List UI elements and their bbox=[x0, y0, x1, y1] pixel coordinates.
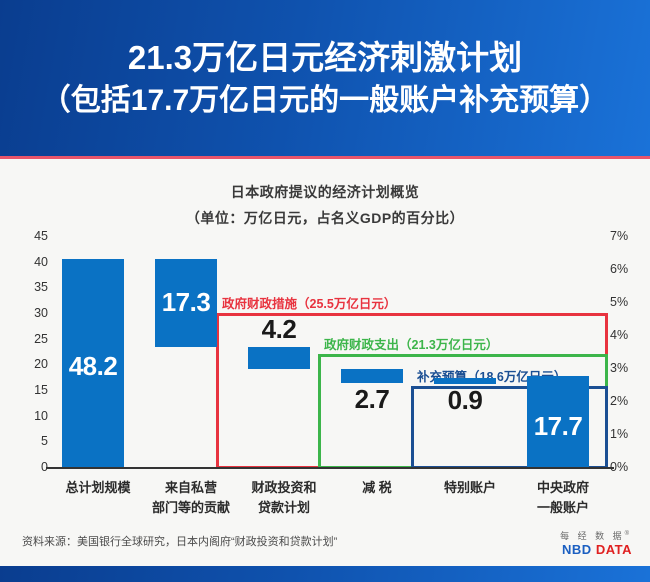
registered-mark-icon: ® bbox=[625, 531, 632, 537]
footer-banner bbox=[0, 566, 650, 582]
x-label-private-sector-contribution: 来自私营 部门等的贡献 bbox=[145, 478, 237, 518]
logo-english-name: NBD DATA bbox=[560, 542, 632, 557]
y-axis-left: 45 40 35 30 25 20 15 10 5 0 bbox=[14, 236, 48, 476]
annotation-label-fiscal-spending: 政府财政支出（21.3万亿日元） bbox=[324, 334, 498, 353]
x-axis-baseline bbox=[52, 467, 608, 469]
y-tick-right-1: 1% bbox=[610, 428, 640, 440]
chart-plot-area: 45 40 35 30 25 20 15 10 5 0 7% 6% 5% 4% … bbox=[0, 236, 650, 476]
y-tick-left-15: 15 bbox=[14, 384, 48, 396]
logo-data-text: DATA bbox=[596, 542, 632, 557]
bar-value-central-government-general-account: 17.7 bbox=[527, 412, 589, 440]
y-axis-left-zero-tick bbox=[46, 467, 53, 469]
bar-value-total-plan-scale: 48.2 bbox=[62, 352, 124, 380]
y-tick-left-25: 25 bbox=[14, 333, 48, 345]
y-tick-left-35: 35 bbox=[14, 281, 48, 293]
x-label-total-plan-scale: 总计划规模 bbox=[52, 478, 144, 498]
header-accent-rule bbox=[0, 156, 650, 159]
y-tick-right-0: 0% bbox=[610, 461, 640, 473]
y-axis-right: 7% 6% 5% 4% 3% 2% 1% 0% bbox=[610, 236, 644, 476]
source-note: 资料来源：美国银行全球研究，日本内阁府“财政投资和贷款计划” bbox=[22, 533, 337, 549]
nbd-logo: 每 经 数 据® NBD DATA bbox=[560, 528, 632, 557]
y-tick-left-45: 45 bbox=[14, 230, 48, 242]
chart-subtitle: （单位：万亿日元，占名义GDP的百分比） bbox=[0, 208, 650, 228]
chart-title: 日本政府提议的经济计划概览 bbox=[0, 182, 650, 202]
bar-tax-reduction bbox=[341, 369, 403, 383]
y-tick-left-40: 40 bbox=[14, 256, 48, 268]
x-label-fiscal-investment-loan-program: 财政投资和 贷款计划 bbox=[238, 478, 330, 518]
logo-chinese-text: 每 经 数 据 bbox=[560, 531, 625, 541]
x-label-line1: 特别账户 bbox=[424, 478, 516, 498]
x-label-line2: 一般账户 bbox=[517, 498, 609, 518]
x-label-special-account: 特别账户 bbox=[424, 478, 516, 498]
y-tick-right-3: 3% bbox=[610, 362, 640, 374]
x-label-line2: 部门等的贡献 bbox=[145, 498, 237, 518]
logo-nbd-text: NBD bbox=[562, 542, 592, 557]
bar-value-fiscal-investment-loan-program: 4.2 bbox=[248, 315, 310, 343]
bar-value-special-account: 0.9 bbox=[434, 386, 496, 414]
annotation-label-fiscal-measures: 政府财政措施（25.5万亿日元） bbox=[222, 293, 396, 312]
bar-fiscal-investment-loan-program bbox=[248, 347, 310, 369]
y-tick-right-4: 4% bbox=[610, 329, 640, 341]
y-tick-left-0: 0 bbox=[14, 461, 48, 473]
x-label-tax-reduction: 减 税 bbox=[331, 478, 423, 498]
x-label-line1: 中央政府 bbox=[517, 478, 609, 498]
y-tick-right-6: 6% bbox=[610, 263, 640, 275]
x-label-line1: 来自私营 bbox=[145, 478, 237, 498]
y-axis-right-zero-tick bbox=[607, 467, 614, 469]
x-label-line2: 贷款计划 bbox=[238, 498, 330, 518]
bar-special-account bbox=[434, 378, 496, 384]
x-label-line1: 总计划规模 bbox=[52, 478, 144, 498]
bar-value-tax-reduction: 2.7 bbox=[341, 385, 403, 413]
header-title-group: 21.3万亿日元经济刺激计划 （包括17.7万亿日元的一般账户补充预算） bbox=[0, 36, 650, 122]
x-label-line1: 财政投资和 bbox=[238, 478, 330, 498]
logo-chinese-name: 每 经 数 据® bbox=[560, 528, 632, 542]
y-tick-right-2: 2% bbox=[610, 395, 640, 407]
y-tick-left-5: 5 bbox=[14, 435, 48, 447]
y-tick-right-5: 5% bbox=[610, 296, 640, 308]
bar-value-private-sector-contribution: 17.3 bbox=[155, 288, 217, 316]
page-title-line1: 21.3万亿日元经济刺激计划 bbox=[0, 36, 650, 80]
page-title-line2: （包括17.7万亿日元的一般账户补充预算） bbox=[0, 80, 650, 122]
x-label-line1: 减 税 bbox=[331, 478, 423, 498]
y-tick-right-7: 7% bbox=[610, 230, 640, 242]
x-label-central-government-general-account: 中央政府 一般账户 bbox=[517, 478, 609, 518]
x-axis-category-labels: 总计划规模 来自私营 部门等的贡献 财政投资和 贷款计划 减 税 特别账户 中央… bbox=[52, 478, 608, 524]
header-banner: 21.3万亿日元经济刺激计划 （包括17.7万亿日元的一般账户补充预算） bbox=[0, 0, 650, 156]
y-tick-left-10: 10 bbox=[14, 410, 48, 422]
y-tick-left-30: 30 bbox=[14, 307, 48, 319]
y-tick-left-20: 20 bbox=[14, 358, 48, 370]
